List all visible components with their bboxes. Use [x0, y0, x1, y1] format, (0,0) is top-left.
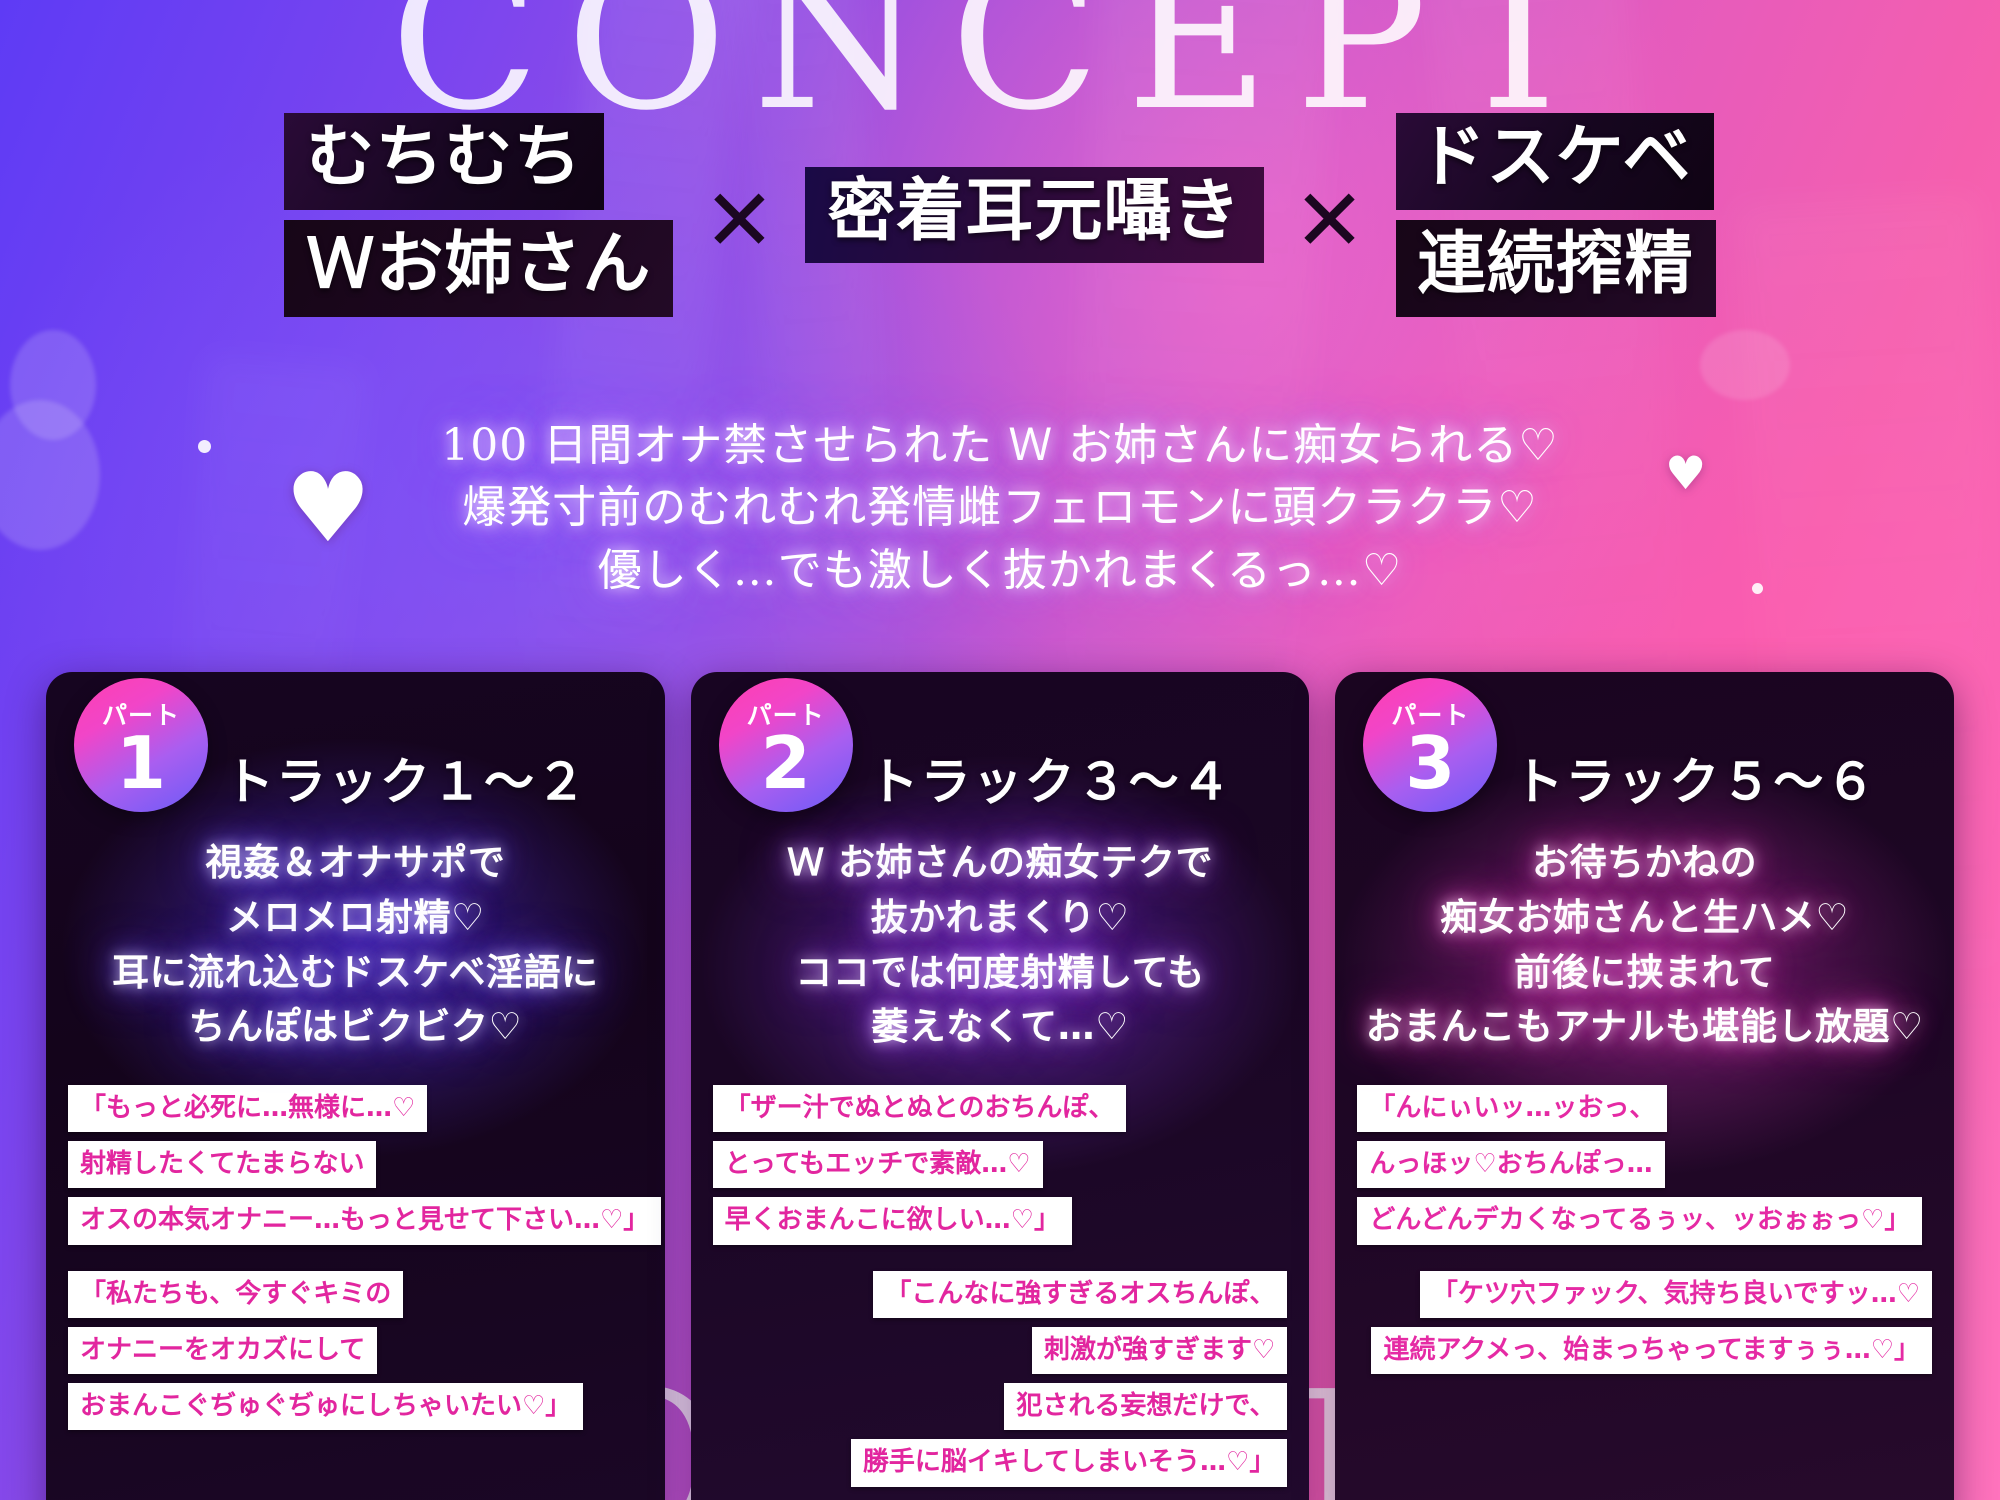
- quote-line: んっほッ♡おちんぽっ…: [1357, 1141, 1664, 1188]
- concept-page: CONCEPT CONCEPT むちむち Ｗお姉さん ✕ 密着耳元囁き ✕ ドス…: [0, 0, 2000, 1500]
- quote-group: 「ケツ穴ファック、気持ち良いですッ…♡連続アクメっ、始まっちゃってますぅぅ…♡」: [1357, 1271, 1932, 1374]
- headline-badge-w-oneesan: Ｗお姉さん: [284, 220, 673, 317]
- multiply-icon: ✕: [1290, 178, 1370, 264]
- card-lead-line: ちんぽはビクビク♡: [72, 1000, 639, 1055]
- quote-line: とってもエッチで素敵…♡: [713, 1141, 1043, 1188]
- card-lead-line: Ｗ お姉さんの痴女テクで: [717, 836, 1284, 891]
- card-lead-text: Ｗ お姉さんの痴女テクで抜かれまくり♡ココでは何度射精しても萎えなくて…♡: [717, 836, 1284, 1055]
- dot-decoration: [1752, 583, 1763, 594]
- quote-line: 刺激が強すぎます♡: [1032, 1327, 1287, 1374]
- card-header: パート3トラック５〜６: [1357, 742, 1932, 814]
- headline-group-left: むちむち Ｗお姉さん: [284, 113, 673, 317]
- part-badge: パート1: [74, 678, 208, 812]
- part-badge: パート2: [719, 678, 853, 812]
- headline-row: むちむち Ｗお姉さん ✕ 密着耳元囁き ✕ ドスケベ 連続搾精: [60, 100, 1940, 330]
- headline-badge-muchimuchi: むちむち: [284, 113, 604, 210]
- track-label: トラック５〜６: [1513, 742, 1877, 814]
- quote-group: 「もっと必死に…無様に…♡射精したくてたまらないオスの本気オナニー…もっと見せて…: [68, 1085, 643, 1245]
- quote-line: どんどんデカくなってるぅッ、ッおぉぉっ♡」: [1357, 1197, 1922, 1244]
- quote-line: 連続アクメっ、始まっちゃってますぅぅ…♡」: [1371, 1327, 1932, 1374]
- card-lead-line: お待ちかねの: [1361, 836, 1928, 891]
- quote-line: 「ケツ穴ファック、気持ち良いですッ…♡: [1420, 1271, 1932, 1318]
- part-badge-number: 2: [761, 730, 811, 796]
- dot-decoration: [198, 440, 211, 453]
- card-lead-text: 視姦＆オナサポでメロメロ射精♡耳に流れ込むドスケベ淫語にちんぽはビクビク♡: [72, 836, 639, 1055]
- track-label: トラック１〜２: [224, 742, 588, 814]
- quote-line: 勝手に脳イキしてしまいそう…♡」: [851, 1439, 1288, 1486]
- quote-line: オナニーをオカズにして: [68, 1327, 377, 1374]
- part-card: パート1トラック１〜２視姦＆オナサポでメロメロ射精♡耳に流れ込むドスケベ淫語にち…: [46, 672, 665, 1500]
- track-label: トラック３〜４: [869, 742, 1233, 814]
- quote-line: 「もっと必死に…無様に…♡: [68, 1085, 427, 1132]
- card-lead-line: 萎えなくて…♡: [717, 1000, 1284, 1055]
- quote-group: 「ザー汁でぬとぬとのおちんぽ、とってもエッチで素敵…♡早くおまんこに欲しい…♡」: [713, 1085, 1288, 1245]
- card-header: パート2トラック３〜４: [713, 742, 1288, 814]
- headline-group-right: ドスケベ 連続搾精: [1396, 113, 1716, 317]
- part-badge-number: 1: [116, 730, 166, 796]
- card-lead-text: お待ちかねの痴女お姉さんと生ハメ♡前後に挟まれておまんこもアナルも堪能し放題♡: [1361, 836, 1928, 1055]
- quote-line: 犯される妄想だけで、: [1004, 1383, 1287, 1430]
- card-lead-line: 視姦＆オナサポで: [72, 836, 639, 891]
- quote-line: 「私たちも、今すぐキミの: [68, 1271, 403, 1318]
- heart-icon: ♥: [1665, 450, 1706, 496]
- quote-group: 「私たちも、今すぐキミのオナニーをオカズにしておまんこぐぢゅぐぢゅにしちゃいたい…: [68, 1271, 643, 1431]
- card-header: パート1トラック１〜２: [68, 742, 643, 814]
- card-lead-line: メロメロ射精♡: [72, 891, 639, 946]
- card-lead-line: 抜かれまくり♡: [717, 891, 1284, 946]
- part-badge: パート3: [1363, 678, 1497, 812]
- quote-line: 「ザー汁でぬとぬとのおちんぽ、: [713, 1085, 1127, 1132]
- part-badge-number: 3: [1405, 730, 1455, 796]
- part-cards-row: パート1トラック１〜２視姦＆オナサポでメロメロ射精♡耳に流れ込むドスケベ淫語にち…: [46, 672, 1954, 1500]
- quote-line: 「んにぃいッ…ッおっ、: [1357, 1085, 1667, 1132]
- quote-line: 「こんなに強すぎるオスちんぽ、: [873, 1271, 1287, 1318]
- headline-badge-dosukebe: ドスケベ: [1396, 113, 1714, 210]
- card-lead-line: 耳に流れ込むドスケベ淫語に: [72, 946, 639, 1001]
- headline-badge-mimimoto-sasayaki: 密着耳元囁き: [805, 167, 1263, 264]
- headline-group-center: 密着耳元囁き: [805, 167, 1263, 264]
- card-lead-line: 前後に挟まれて: [1361, 946, 1928, 1001]
- card-lead-line: ココでは何度射精しても: [717, 946, 1284, 1001]
- quote-line: 早くおまんこに欲しい…♡」: [713, 1197, 1072, 1244]
- quote-group: 「んにぃいッ…ッおっ、んっほッ♡おちんぽっ…どんどんデカくなってるぅッ、ッおぉぉ…: [1357, 1085, 1932, 1245]
- background-blob: [1700, 330, 1790, 400]
- quote-line: オスの本気オナニー…もっと見せて下さい…♡」: [68, 1197, 661, 1244]
- card-lead-line: おまんこもアナルも堪能し放題♡: [1361, 1000, 1928, 1055]
- heart-icon: ♥: [285, 460, 371, 556]
- quote-group: 「こんなに強すぎるオスちんぽ、刺激が強すぎます♡犯される妄想だけで、勝手に脳イキ…: [713, 1271, 1288, 1487]
- headline-badge-renzoku-sakusei: 連続搾精: [1396, 220, 1716, 317]
- quote-line: 射精したくてたまらない: [68, 1141, 376, 1188]
- card-lead-line: 痴女お姉さんと生ハメ♡: [1361, 891, 1928, 946]
- part-card: パート2トラック３〜４Ｗ お姉さんの痴女テクで抜かれまくり♡ココでは何度射精して…: [691, 672, 1310, 1500]
- multiply-icon: ✕: [699, 178, 779, 264]
- part-card: パート3トラック５〜６お待ちかねの痴女お姉さんと生ハメ♡前後に挟まれておまんこも…: [1335, 672, 1954, 1500]
- quote-line: おまんこぐぢゅぐぢゅにしちゃいたい♡」: [68, 1383, 583, 1430]
